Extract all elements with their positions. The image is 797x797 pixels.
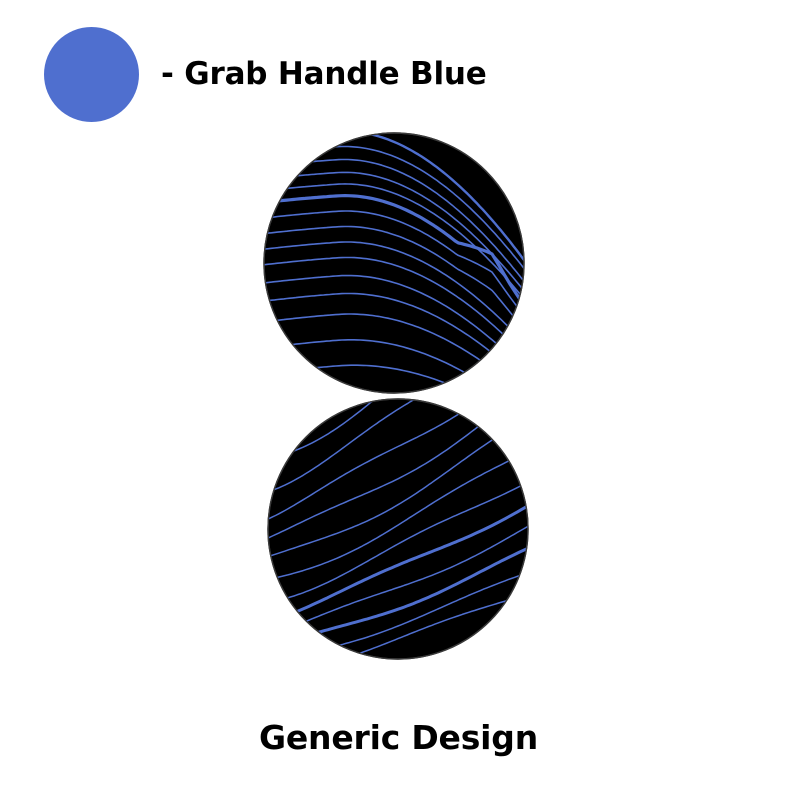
legend: - Grab Handle Blue — [44, 24, 487, 124]
legend-label: - Grab Handle Blue — [161, 56, 487, 92]
grab-handle-blue-swatch — [44, 27, 139, 122]
contour-sphere-top — [256, 131, 532, 429]
page-caption: Generic Design — [0, 718, 797, 757]
